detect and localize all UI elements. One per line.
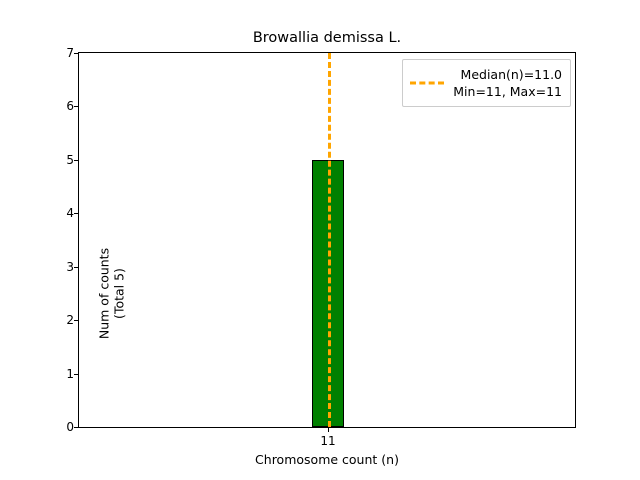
chart-title: Browallia demissa L. xyxy=(78,30,576,47)
y-tick-label-0: 0 xyxy=(66,421,74,433)
y-axis-label-sub: (Total 5) xyxy=(112,199,127,389)
x-axis-label: Chromosome count (n) xyxy=(78,452,576,467)
legend-row: Median(n)=11.0 Min=11, Max=11 xyxy=(410,66,562,100)
legend-text-block: Median(n)=11.0 Min=11, Max=11 xyxy=(453,66,562,100)
median-line-swatch-icon xyxy=(410,77,444,89)
y-tick-label-4: 4 xyxy=(66,207,74,219)
y-tick-label-3: 3 xyxy=(66,261,74,273)
x-tick-label-11: 11 xyxy=(320,434,335,448)
chart-figure: Browallia demissa L. 0 1 2 3 4 5 6 xyxy=(0,0,640,480)
legend-label-minmax: Min=11, Max=11 xyxy=(453,83,562,100)
legend: Median(n)=11.0 Min=11, Max=11 xyxy=(402,59,571,107)
y-tick-label-2: 2 xyxy=(66,314,74,326)
y-tick-label-1: 1 xyxy=(66,368,74,380)
legend-label-median: Median(n)=11.0 xyxy=(461,66,562,83)
y-tick-label-7: 7 xyxy=(66,47,74,59)
y-tick-label-6: 6 xyxy=(66,100,74,112)
y-tick-label-5: 5 xyxy=(66,154,74,166)
y-axis-label: Num of counts xyxy=(97,199,112,389)
median-line xyxy=(328,53,331,427)
plot-area: 0 1 2 3 4 5 6 7 xyxy=(78,52,576,428)
